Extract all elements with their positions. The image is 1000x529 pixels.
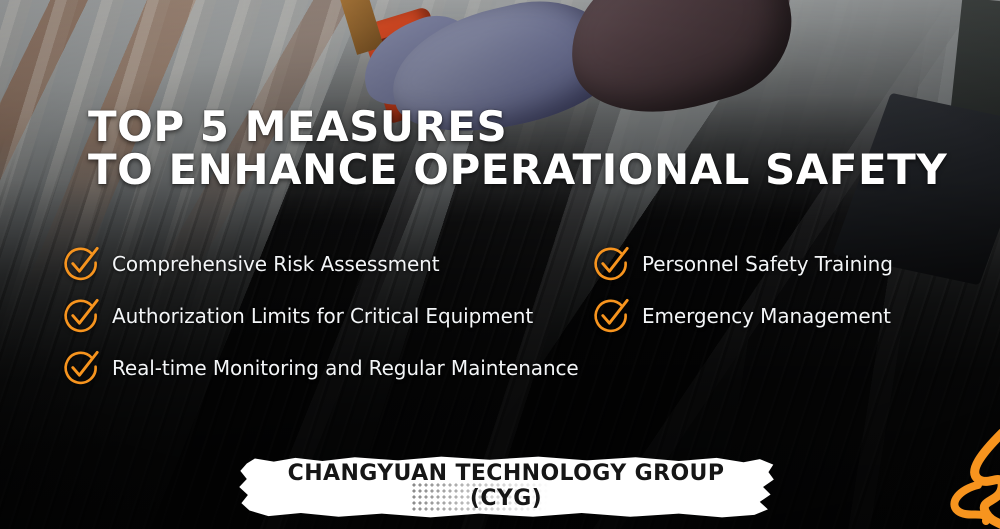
list-item: Comprehensive Risk Assessment <box>64 238 594 290</box>
list-item: Personnel Safety Training <box>594 238 944 290</box>
headline-line-1: TOP 5 MEASURES <box>88 106 947 149</box>
check-circle-icon <box>594 299 628 333</box>
list-item: Emergency Management <box>594 290 944 342</box>
measures-column-left-row2: Authorization Limits for Critical Equipm… <box>64 290 594 342</box>
orange-brush-scribble-icon <box>916 427 1000 529</box>
list-item-label: Authorization Limits for Critical Equipm… <box>112 304 533 328</box>
list-item-label: Real-time Monitoring and Regular Mainten… <box>112 356 579 380</box>
check-circle-icon <box>64 299 98 333</box>
safety-infographic-poster: TOP 5 MEASURES TO ENHANCE OPERATIONAL SA… <box>0 0 1000 529</box>
measures-column-right-row1: Personnel Safety Training <box>594 238 944 290</box>
measures-list: Comprehensive Risk Assessment Personnel … <box>64 238 944 394</box>
measures-column-left-row3: Real-time Monitoring and Regular Mainten… <box>64 342 594 394</box>
check-circle-icon <box>64 247 98 281</box>
list-item-label: Emergency Management <box>642 304 891 328</box>
measures-row-3: Real-time Monitoring and Regular Mainten… <box>64 342 944 394</box>
list-item-label: Personnel Safety Training <box>642 252 893 276</box>
measures-row-1: Comprehensive Risk Assessment Personnel … <box>64 238 944 290</box>
check-circle-icon <box>594 247 628 281</box>
measures-row-2: Authorization Limits for Critical Equipm… <box>64 290 944 342</box>
check-circle-icon <box>64 351 98 385</box>
list-item: Authorization Limits for Critical Equipm… <box>64 290 594 342</box>
page-title: TOP 5 MEASURES TO ENHANCE OPERATIONAL SA… <box>88 106 947 192</box>
measures-column-left-row1: Comprehensive Risk Assessment <box>64 238 594 290</box>
brand-name-line-2: (CYG) <box>470 487 542 512</box>
list-item-label: Comprehensive Risk Assessment <box>112 252 439 276</box>
brand-name: CHANGYUAN TECHNOLOGY GROUP (CYG) <box>236 456 776 518</box>
poster-content: TOP 5 MEASURES TO ENHANCE OPERATIONAL SA… <box>0 0 1000 529</box>
measures-column-right-row2: Emergency Management <box>594 290 944 342</box>
brand-name-line-1: CHANGYUAN TECHNOLOGY GROUP <box>288 462 725 487</box>
list-item: Real-time Monitoring and Regular Mainten… <box>64 342 594 394</box>
brand-banner: CHANGYUAN TECHNOLOGY GROUP (CYG) <box>236 456 776 518</box>
headline-line-2: TO ENHANCE OPERATIONAL SAFETY <box>88 149 947 192</box>
